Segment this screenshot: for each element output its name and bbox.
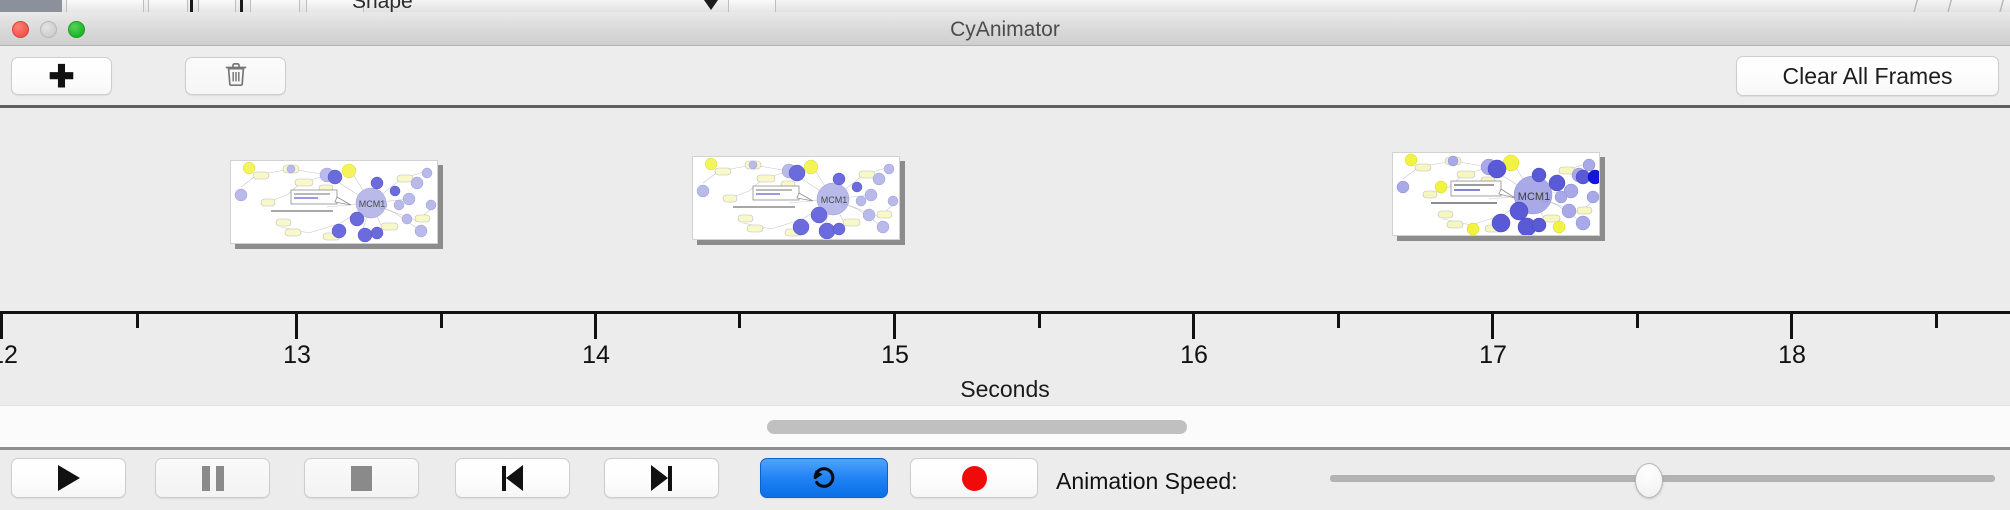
trash-icon xyxy=(223,60,249,93)
network-graph-icon: MCM1 xyxy=(231,161,437,243)
skip-to-end-icon xyxy=(651,465,672,491)
ruler-tick-minor xyxy=(440,314,443,328)
stop-button[interactable] xyxy=(304,458,419,498)
network-preview: MCM1 xyxy=(692,156,900,240)
background-divider xyxy=(1944,0,1955,12)
ruler-tick-major xyxy=(594,314,597,339)
loop-button[interactable] xyxy=(760,458,888,498)
record-icon xyxy=(962,466,987,491)
ruler-axis-line xyxy=(0,311,2010,314)
skip-to-end-button[interactable] xyxy=(604,458,719,498)
network-preview: MCM1 xyxy=(1392,152,1600,236)
svg-text:MCM1: MCM1 xyxy=(359,199,386,209)
scrollbar-thumb[interactable] xyxy=(767,420,1187,434)
record-button[interactable] xyxy=(910,458,1038,498)
ruler-tick-minor xyxy=(738,314,741,328)
background-chevron-icon xyxy=(704,0,718,10)
ruler-label: 16 xyxy=(1180,341,1208,370)
animation-speed-label: Animation Speed: xyxy=(1056,468,1238,495)
ruler-label: 15 xyxy=(881,341,909,370)
ruler-tick-major xyxy=(1491,314,1494,339)
ruler-label: 13 xyxy=(283,341,311,370)
play-icon xyxy=(58,465,80,491)
loop-icon xyxy=(809,461,839,496)
window-title: CyAnimator xyxy=(0,18,2010,42)
timeline-ruler[interactable]: 12 13 14 15 16 17 18 Seconds xyxy=(0,308,2010,405)
background-glyph-stroke xyxy=(240,0,243,12)
background-tab xyxy=(198,0,236,12)
timeline-frame-thumbnail[interactable]: MCM1 xyxy=(692,156,902,242)
ruler-label: 17 xyxy=(1479,341,1507,370)
timeline-track[interactable]: MCM1 xyxy=(0,108,2010,308)
cyanimator-window: Shape CyAnimator ✚ xyxy=(0,0,2010,510)
ruler-tick-minor xyxy=(1337,314,1340,328)
background-tab xyxy=(250,0,300,12)
title-bar[interactable]: CyAnimator xyxy=(0,12,2010,46)
ruler-tick-minor xyxy=(1935,314,1938,328)
stop-icon xyxy=(351,466,372,491)
clear-all-frames-button[interactable]: Clear All Frames xyxy=(1736,56,1999,96)
ruler-axis-title: Seconds xyxy=(0,376,2010,403)
timeline-frame-thumbnail[interactable]: MCM1 xyxy=(230,160,440,246)
pause-button[interactable] xyxy=(155,458,270,498)
ruler-tick-major xyxy=(893,314,896,339)
background-divider xyxy=(1910,0,1921,12)
ruler-tick-minor xyxy=(136,314,139,328)
background-tab xyxy=(66,0,144,12)
network-preview: MCM1 xyxy=(230,160,438,244)
background-tab xyxy=(148,0,188,12)
ruler-tick-major xyxy=(1790,314,1793,339)
ruler-label: 12 xyxy=(0,341,18,370)
network-graph-icon: MCM1 xyxy=(693,157,899,239)
plus-icon: ✚ xyxy=(49,61,75,92)
animation-speed-slider[interactable] xyxy=(1330,458,1995,498)
svg-text:MCM1: MCM1 xyxy=(821,195,848,205)
network-graph-icon: MCM1 xyxy=(1393,153,1599,235)
toolbar: ✚ Clear All Frames xyxy=(0,46,2010,108)
background-tab xyxy=(728,0,776,12)
timeline-frame-thumbnail[interactable]: MCM1 xyxy=(1392,152,1602,238)
timeline-horizontal-scrollbar[interactable] xyxy=(0,405,2010,447)
clear-all-frames-label: Clear All Frames xyxy=(1783,63,1953,90)
skip-to-start-icon xyxy=(502,465,523,491)
background-window-strip: Shape xyxy=(0,0,2010,12)
slider-thumb[interactable] xyxy=(1635,463,1663,498)
ruler-tick-major xyxy=(295,314,298,339)
ruler-label: 18 xyxy=(1778,341,1806,370)
add-frame-button[interactable]: ✚ xyxy=(11,57,112,95)
background-window-label: Shape xyxy=(352,0,413,12)
ruler-tick-major xyxy=(1192,314,1195,339)
background-glyph-stroke xyxy=(190,0,193,12)
ruler-tick-minor xyxy=(1636,314,1639,328)
play-button[interactable] xyxy=(11,458,126,498)
ruler-label: 14 xyxy=(582,341,610,370)
delete-frame-button[interactable] xyxy=(185,57,286,95)
background-window-titlebar-fragment xyxy=(0,0,62,12)
skip-to-start-button[interactable] xyxy=(455,458,570,498)
playback-controls: Animation Speed: xyxy=(0,447,2010,510)
ruler-tick-major xyxy=(0,314,3,339)
pause-icon xyxy=(202,466,224,491)
svg-text:MCM1: MCM1 xyxy=(1518,191,1550,203)
background-divider xyxy=(1996,0,2007,12)
ruler-tick-minor xyxy=(1038,314,1041,328)
